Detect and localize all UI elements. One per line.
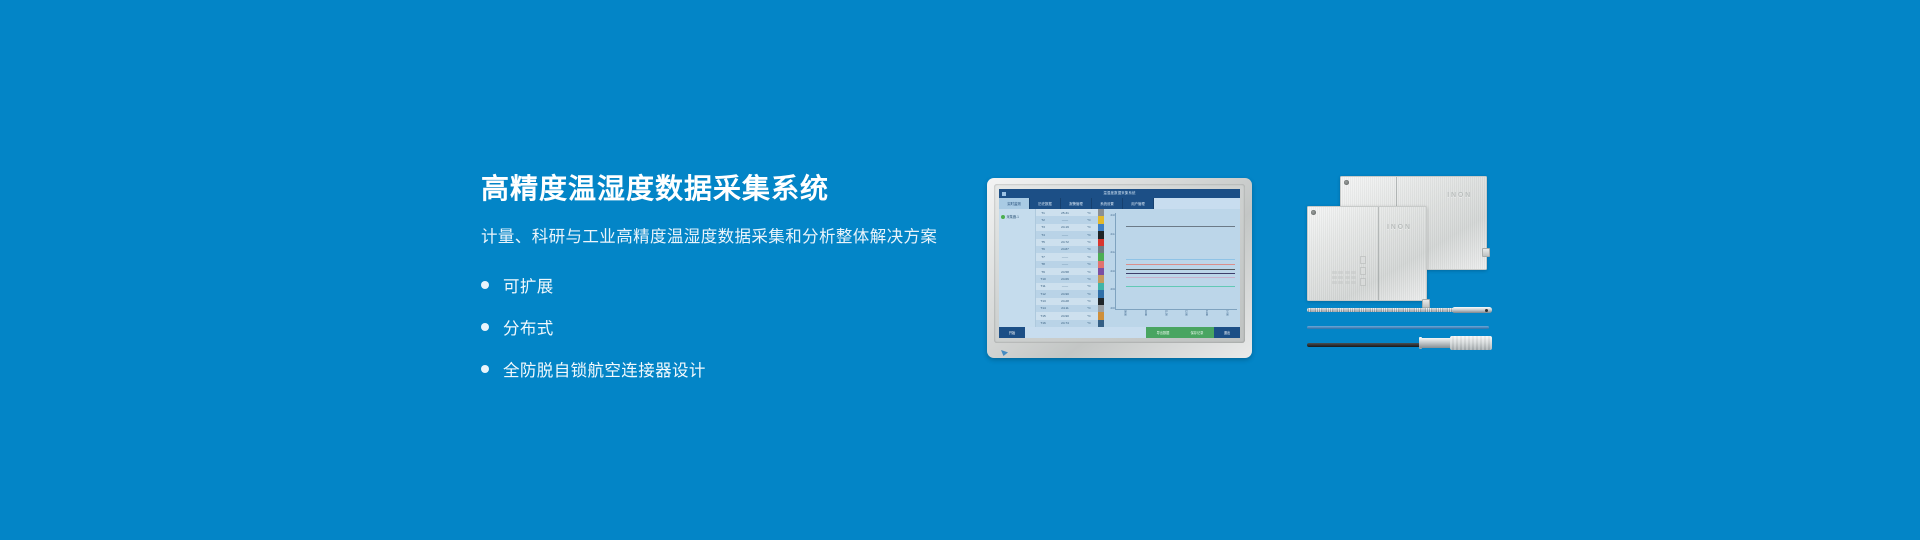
app-tabbar: 实时监测 历史数据 报警管理 系统设置 用户管理 (999, 198, 1240, 209)
probe-housing (1450, 336, 1492, 350)
cell-unit: °C (1080, 231, 1098, 238)
screw-icon (1311, 210, 1316, 215)
table-row[interactable]: T125.31°C (1036, 209, 1098, 216)
cell-value: 24.74 (1050, 320, 1080, 327)
cell-unit: °C (1080, 305, 1098, 312)
monitor-outer-bezel: 温湿度数据采集系统 实时监测 历史数据 报警管理 系统设置 用户管理 (987, 178, 1252, 358)
cell-channel: T15 (1036, 312, 1050, 319)
trend-line (1126, 259, 1235, 260)
table-row[interactable]: T624.87°C (1036, 246, 1098, 253)
cell-value: 24.72 (1050, 239, 1080, 246)
table-row[interactable]: T324.19°C (1036, 224, 1098, 231)
list-item: 可扩展 (481, 270, 1001, 300)
connector-port (1482, 248, 1490, 257)
trend-line (1126, 286, 1235, 287)
cell-value: —— (1050, 283, 1080, 290)
monitor-inner-bezel: 温湿度数据采集系统 实时监测 历史数据 报警管理 系统设置 用户管理 (994, 184, 1245, 343)
monitor-screen: 温湿度数据采集系统 实时监测 历史数据 报警管理 系统设置 用户管理 (999, 189, 1240, 338)
cell-unit: °C (1080, 298, 1098, 305)
cell-value: —— (1050, 216, 1080, 223)
black-cable (1307, 343, 1427, 347)
terminal-block-icon (1332, 271, 1356, 284)
trend-line (1126, 226, 1235, 227)
cell-channel: T8 (1036, 261, 1050, 268)
channel-table: T125.31°CT2——°CT324.19°CT4——°CT524.72°CT… (1036, 209, 1098, 327)
app-titlebar: 温湿度数据采集系统 (999, 189, 1240, 198)
trend-line (1126, 264, 1235, 265)
x-axis-tick: 10:00 (1144, 310, 1147, 325)
cell-channel: T1 (1036, 209, 1050, 216)
channel-table-wrap: T125.31°CT2——°CT324.19°CT4——°CT524.72°CT… (1036, 209, 1104, 327)
brand-label-rear: INON (1447, 192, 1472, 199)
tab-alarms[interactable]: 报警管理 (1061, 198, 1092, 209)
start-button[interactable]: 开始 (999, 327, 1025, 338)
cell-channel: T3 (1036, 224, 1050, 231)
table-row[interactable]: T1324.28°C (1036, 298, 1098, 305)
cell-unit: °C (1080, 239, 1098, 246)
product-banner: 高精度温湿度数据采集系统 计量、科研与工业高精度温湿度数据采集和分析整体解决方案… (0, 0, 1920, 540)
tree-node-collector[interactable]: 采集器-1 (1001, 214, 1033, 219)
cell-channel: T10 (1036, 275, 1050, 282)
cell-channel: T14 (1036, 305, 1050, 312)
cell-value: 24.58 (1050, 268, 1080, 275)
industrial-panel-monitor: 温湿度数据采集系统 实时监测 历史数据 报警管理 系统设置 用户管理 (987, 178, 1252, 358)
table-row[interactable]: T2——°C (1036, 216, 1098, 223)
cell-channel: T9 (1036, 268, 1050, 275)
cell-value: —— (1050, 231, 1080, 238)
app-workspace: 采集器-1 T125.31°CT2——°CT324.19°CT4——°CT524… (999, 209, 1240, 327)
connector-port (1422, 299, 1430, 308)
cell-unit: °C (1080, 275, 1098, 282)
data-logger-modules: INON INON (1307, 176, 1487, 301)
logger-module-front: INON (1307, 206, 1427, 301)
tab-realtime[interactable]: 实时监测 (999, 198, 1030, 209)
feature-label: 可扩展 (503, 273, 554, 297)
cell-channel: T12 (1036, 290, 1050, 297)
table-row[interactable]: T11——°C (1036, 283, 1098, 290)
table-row[interactable]: T7——°C (1036, 253, 1098, 260)
feature-label: 分布式 (503, 315, 554, 339)
tab-users[interactable]: 用户管理 (1123, 198, 1154, 209)
cell-channel: T16 (1036, 320, 1050, 327)
table-row[interactable]: T1424.11°C (1036, 305, 1098, 312)
brand-label-front: INON (1387, 224, 1412, 231)
cell-value: 24.87 (1050, 246, 1080, 253)
x-axis-tick: 12:00 (1185, 310, 1188, 325)
tabbar-filler (1154, 198, 1240, 209)
bullet-dot-icon (481, 365, 489, 373)
page-subtitle: 计量、科研与工业高精度温湿度数据采集和分析整体解决方案 (481, 227, 1001, 248)
blue-sheath-cable (1307, 326, 1489, 329)
cell-value: 24.28 (1050, 298, 1080, 305)
cell-value: 24.11 (1050, 305, 1080, 312)
tree-node-label: 采集器-1 (1007, 214, 1019, 219)
cell-value: 24.66 (1050, 275, 1080, 282)
tab-history[interactable]: 历史数据 (1030, 198, 1061, 209)
table-row[interactable]: T4——°C (1036, 231, 1098, 238)
trend-line (1126, 269, 1235, 270)
cell-unit: °C (1080, 312, 1098, 319)
statusbar-filler (1025, 327, 1146, 338)
table-row[interactable]: T1524.90°C (1036, 312, 1098, 319)
temperature-probes (1307, 308, 1492, 364)
x-axis-tick: 13:00 (1205, 310, 1208, 325)
feature-label: 全防脱自锁航空连接器设计 (503, 357, 706, 381)
cell-unit: °C (1080, 283, 1098, 290)
cell-value: 24.90 (1050, 312, 1080, 319)
brand-mark-icon (1001, 350, 1008, 356)
app-statusbar: 开始 导出数据 保存记录 退出 (999, 327, 1240, 338)
cell-unit: °C (1080, 253, 1098, 260)
aviation-connector (1419, 338, 1453, 348)
bullet-dot-icon (481, 323, 489, 331)
cell-channel: T7 (1036, 253, 1050, 260)
screw-icon (1344, 180, 1349, 185)
cell-unit: °C (1080, 268, 1098, 275)
cell-unit: °C (1080, 216, 1098, 223)
trend-line (1126, 277, 1235, 278)
exit-button[interactable]: 退出 (1214, 327, 1240, 338)
cell-channel: T4 (1036, 231, 1050, 238)
cell-channel: T2 (1036, 216, 1050, 223)
cell-channel: T5 (1036, 239, 1050, 246)
app-title: 温湿度数据采集系统 (999, 189, 1240, 198)
table-row[interactable]: T1224.90°C (1036, 290, 1098, 297)
cell-value: 24.90 (1050, 290, 1080, 297)
table-row[interactable]: T8——°C (1036, 261, 1098, 268)
x-axis-tick: 11:00 (1164, 310, 1167, 325)
cell-unit: °C (1080, 209, 1098, 216)
cell-unit: °C (1080, 246, 1098, 253)
table-row[interactable]: T1624.74°C (1036, 320, 1098, 327)
io-slots-icon (1360, 256, 1366, 286)
cell-channel: T11 (1036, 283, 1050, 290)
hero-copy: 高精度温湿度数据采集系统 计量、科研与工业高精度温湿度数据采集和分析整体解决方案… (481, 172, 1001, 396)
save-record-button[interactable]: 保存记录 (1180, 327, 1214, 338)
cell-unit: °C (1080, 224, 1098, 231)
page-title: 高精度温湿度数据采集系统 (481, 172, 1001, 206)
trend-line (1126, 273, 1235, 274)
feature-list: 可扩展 分布式 全防脱自锁航空连接器设计 (481, 270, 1001, 384)
table-row[interactable]: T524.72°C (1036, 239, 1098, 246)
list-item: 分布式 (481, 312, 1001, 342)
x-axis-tick: 09:00 (1124, 310, 1127, 325)
chart-x-axis: 09:0010:0011:0012:0013:0014:00 (1115, 310, 1237, 325)
cell-channel: T13 (1036, 298, 1050, 305)
cell-value: 25.31 (1050, 209, 1080, 216)
cell-channel: T6 (1036, 246, 1050, 253)
stainless-probe-shaft (1307, 308, 1467, 312)
x-axis-tick: 14:00 (1225, 310, 1228, 325)
cell-value: 24.19 (1050, 224, 1080, 231)
cell-unit: °C (1080, 320, 1098, 327)
table-row[interactable]: T1024.66°C (1036, 275, 1098, 282)
cell-unit: °C (1080, 290, 1098, 297)
export-data-button[interactable]: 导出数据 (1146, 327, 1180, 338)
monitor-chin (987, 343, 1252, 358)
trend-chart: 24.624.424.224.023.823.6 09:0010:0011:00… (1104, 209, 1240, 327)
list-item: 全防脱自锁航空连接器设计 (481, 354, 1001, 384)
probe-tip-end-icon (1485, 309, 1488, 312)
chart-plot-area (1115, 213, 1237, 310)
device-tree-panel: 采集器-1 (999, 209, 1036, 327)
status-online-icon (1001, 215, 1005, 219)
cell-unit: °C (1080, 261, 1098, 268)
table-row[interactable]: T924.58°C (1036, 268, 1098, 275)
cell-value: —— (1050, 253, 1080, 260)
tab-settings[interactable]: 系统设置 (1092, 198, 1123, 209)
bullet-dot-icon (481, 281, 489, 289)
module-seam-line (1378, 207, 1379, 300)
cell-value: —— (1050, 261, 1080, 268)
